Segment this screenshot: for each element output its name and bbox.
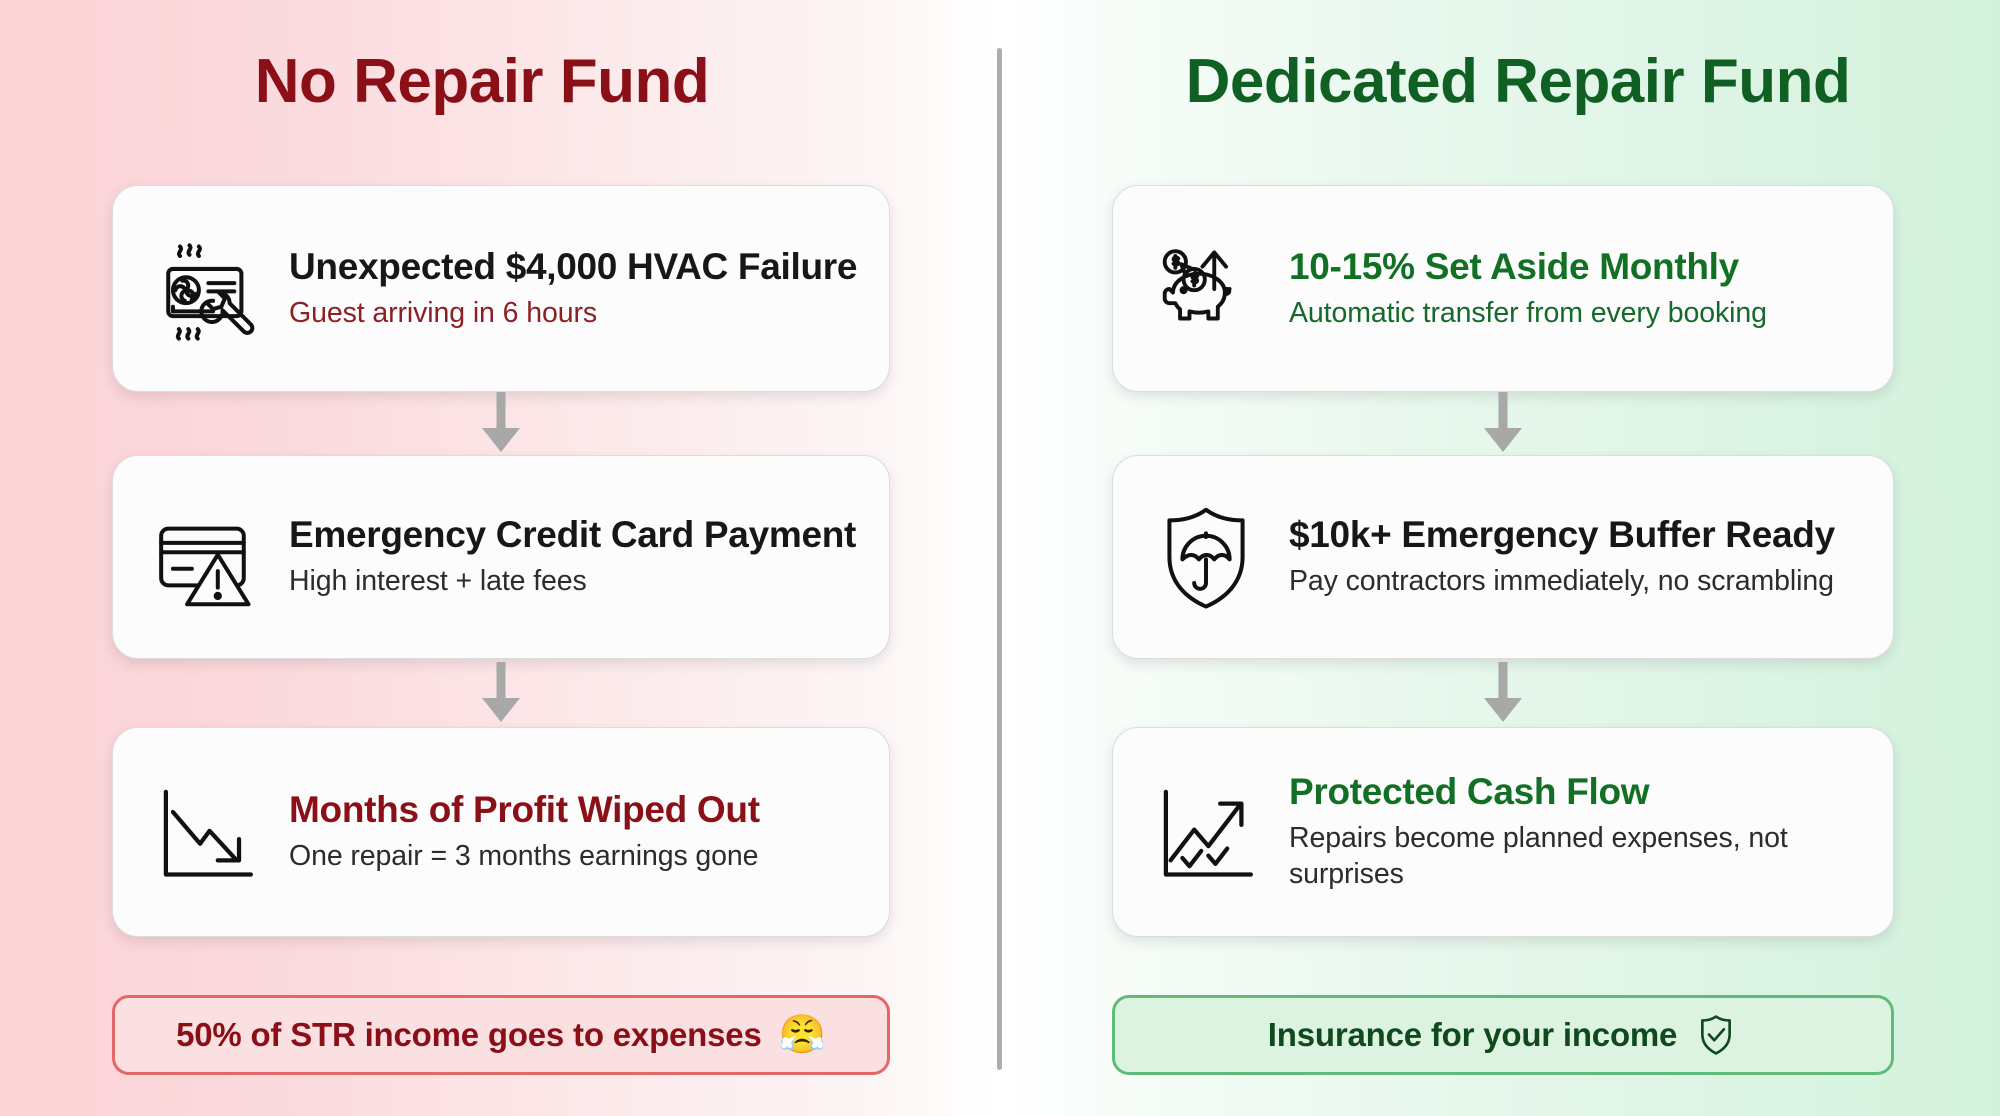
- left-banner[interactable]: 50% of STR income goes to expenses 😤: [112, 995, 890, 1075]
- right-card-3-heading: Protected Cash Flow: [1289, 771, 1867, 814]
- shield-umbrella-icon: [1147, 498, 1265, 616]
- right-banner-text: Insurance for your income: [1268, 1016, 1677, 1054]
- right-arrow-1-to-2: [1480, 392, 1526, 458]
- declining-chart-icon: [147, 773, 265, 891]
- right-column-title: Dedicated Repair Fund: [1018, 46, 2000, 117]
- face-with-steam-from-nose-emoji: 😤: [779, 1016, 826, 1054]
- left-card-2-text: Emergency Credit Card Payment High inter…: [289, 514, 863, 600]
- left-arrow-1-to-2: [478, 392, 524, 458]
- right-card-1-text: 10-15% Set Aside Monthly Automatic trans…: [1289, 246, 1867, 332]
- right-arrow-2-to-3: [1480, 662, 1526, 728]
- left-card-1-text: Unexpected $4,000 HVAC Failure Guest arr…: [289, 246, 863, 332]
- comparison-infographic: No Repair Fund: [0, 0, 2000, 1116]
- right-column-dedicated-repair-fund: Dedicated Repair Fund: [1000, 0, 2000, 1116]
- right-card-set-aside-monthly[interactable]: 10-15% Set Aside Monthly Automatic trans…: [1112, 185, 1894, 392]
- left-card-credit-card[interactable]: Emergency Credit Card Payment High inter…: [112, 455, 890, 659]
- right-card-2-text: $10k+ Emergency Buffer Ready Pay contrac…: [1289, 514, 1867, 600]
- left-card-profit-wiped-out[interactable]: Months of Profit Wiped Out One repair = …: [112, 727, 890, 937]
- right-card-emergency-buffer[interactable]: $10k+ Emergency Buffer Ready Pay contrac…: [1112, 455, 1894, 659]
- left-card-3-heading: Months of Profit Wiped Out: [289, 789, 863, 832]
- left-card-2-heading: Emergency Credit Card Payment: [289, 514, 863, 557]
- left-card-1-heading: Unexpected $4,000 HVAC Failure: [289, 246, 863, 289]
- right-card-3-text: Protected Cash Flow Repairs become plann…: [1289, 771, 1867, 892]
- right-card-1-heading: 10-15% Set Aside Monthly: [1289, 246, 1867, 289]
- hvac-unit-wrench-icon: [147, 230, 265, 348]
- left-arrow-2-to-3: [478, 662, 524, 728]
- right-card-3-sub: Repairs become planned expenses, not sur…: [1289, 821, 1867, 892]
- right-banner[interactable]: Insurance for your income: [1112, 995, 1894, 1075]
- rising-chart-check-icon: [1147, 773, 1265, 891]
- left-card-hvac-failure[interactable]: Unexpected $4,000 HVAC Failure Guest arr…: [112, 185, 890, 392]
- right-card-2-heading: $10k+ Emergency Buffer Ready: [1289, 514, 1867, 557]
- shield-check-icon: [1694, 1013, 1738, 1057]
- left-banner-text: 50% of STR income goes to expenses: [176, 1016, 762, 1054]
- left-column-no-repair-fund: No Repair Fund: [0, 0, 1000, 1116]
- credit-card-warning-icon: [147, 498, 265, 616]
- right-card-1-sub: Automatic transfer from every booking: [1289, 296, 1867, 332]
- piggy-bank-growth-icon: [1147, 230, 1265, 348]
- right-card-protected-cash-flow[interactable]: Protected Cash Flow Repairs become plann…: [1112, 727, 1894, 937]
- left-card-3-sub: One repair = 3 months earnings gone: [289, 839, 863, 875]
- left-column-title: No Repair Fund: [0, 46, 982, 117]
- left-card-3-text: Months of Profit Wiped Out One repair = …: [289, 789, 863, 875]
- left-card-1-sub: Guest arriving in 6 hours: [289, 296, 863, 332]
- right-card-2-sub: Pay contractors immediately, no scrambli…: [1289, 564, 1867, 600]
- left-card-2-sub: High interest + late fees: [289, 564, 863, 600]
